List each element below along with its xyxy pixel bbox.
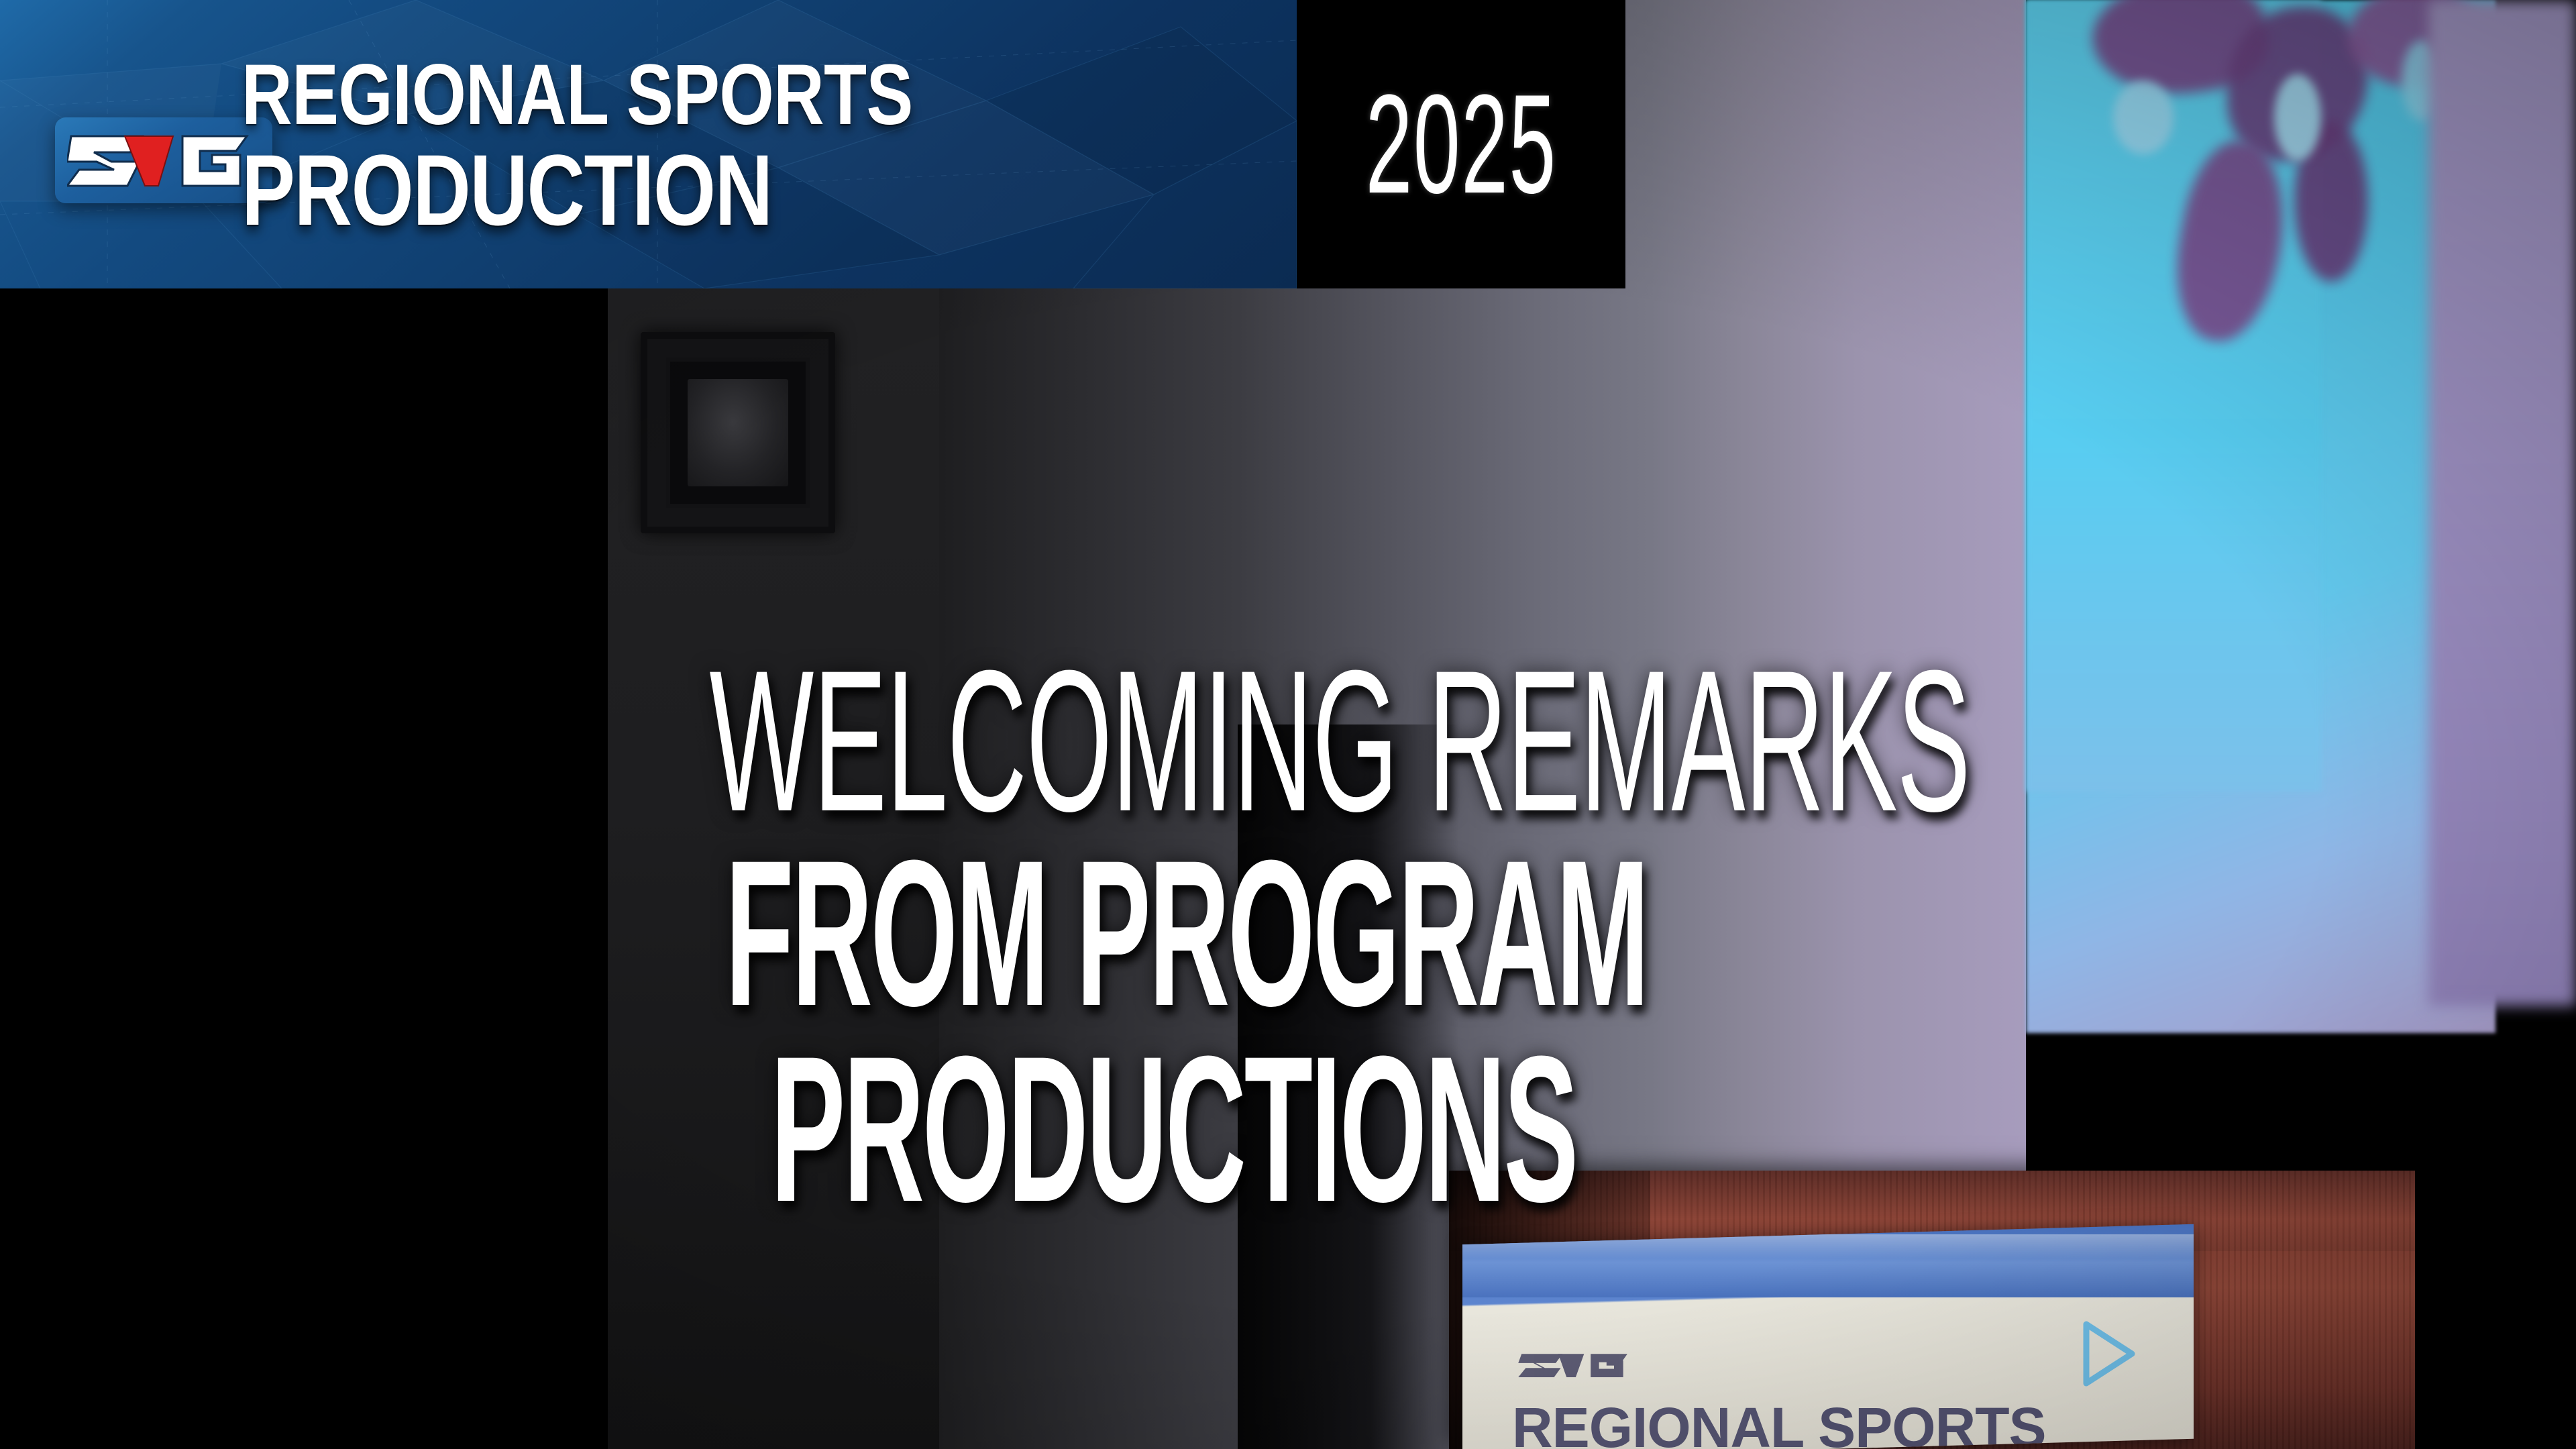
picture-art xyxy=(688,379,788,486)
event-header-bar: REGIONAL SPORTS PRODUCTION xyxy=(0,0,1297,288)
play-triangle-icon xyxy=(2080,1319,2136,1389)
picture-mat xyxy=(666,358,810,508)
session-title-line-3: PRODUCTIONS xyxy=(725,1029,1576,1229)
session-title-line-2: FROM PROGRAM xyxy=(725,833,1576,1033)
podium-svg-logo-icon xyxy=(1517,1350,1638,1397)
session-title-line-1: WELCOMING REMARKS xyxy=(710,644,1577,837)
header-title-line1: REGIONAL SPORTS xyxy=(241,52,913,138)
event-year-box: 2025 xyxy=(1297,0,1625,288)
podium-sign-title: REGIONAL SPORTS xyxy=(1512,1395,2046,1449)
event-year-label: 2025 xyxy=(1362,0,1560,288)
slide-frame: PRODUCTIONPRODUCTIONPRODUCTIONPRODUCTION… xyxy=(0,0,2576,1449)
podium-sign-title-bold: SPORTS xyxy=(1818,1396,2045,1449)
framed-picture-icon xyxy=(641,332,835,533)
session-title-block: WELCOMING REMARKS FROM PROGRAM PRODUCTIO… xyxy=(0,644,1610,1315)
podium-sign-title-light: REGIONAL xyxy=(1512,1396,1818,1449)
header-title-line2: PRODUCTION xyxy=(241,140,772,240)
svg-logo-icon xyxy=(55,117,272,203)
